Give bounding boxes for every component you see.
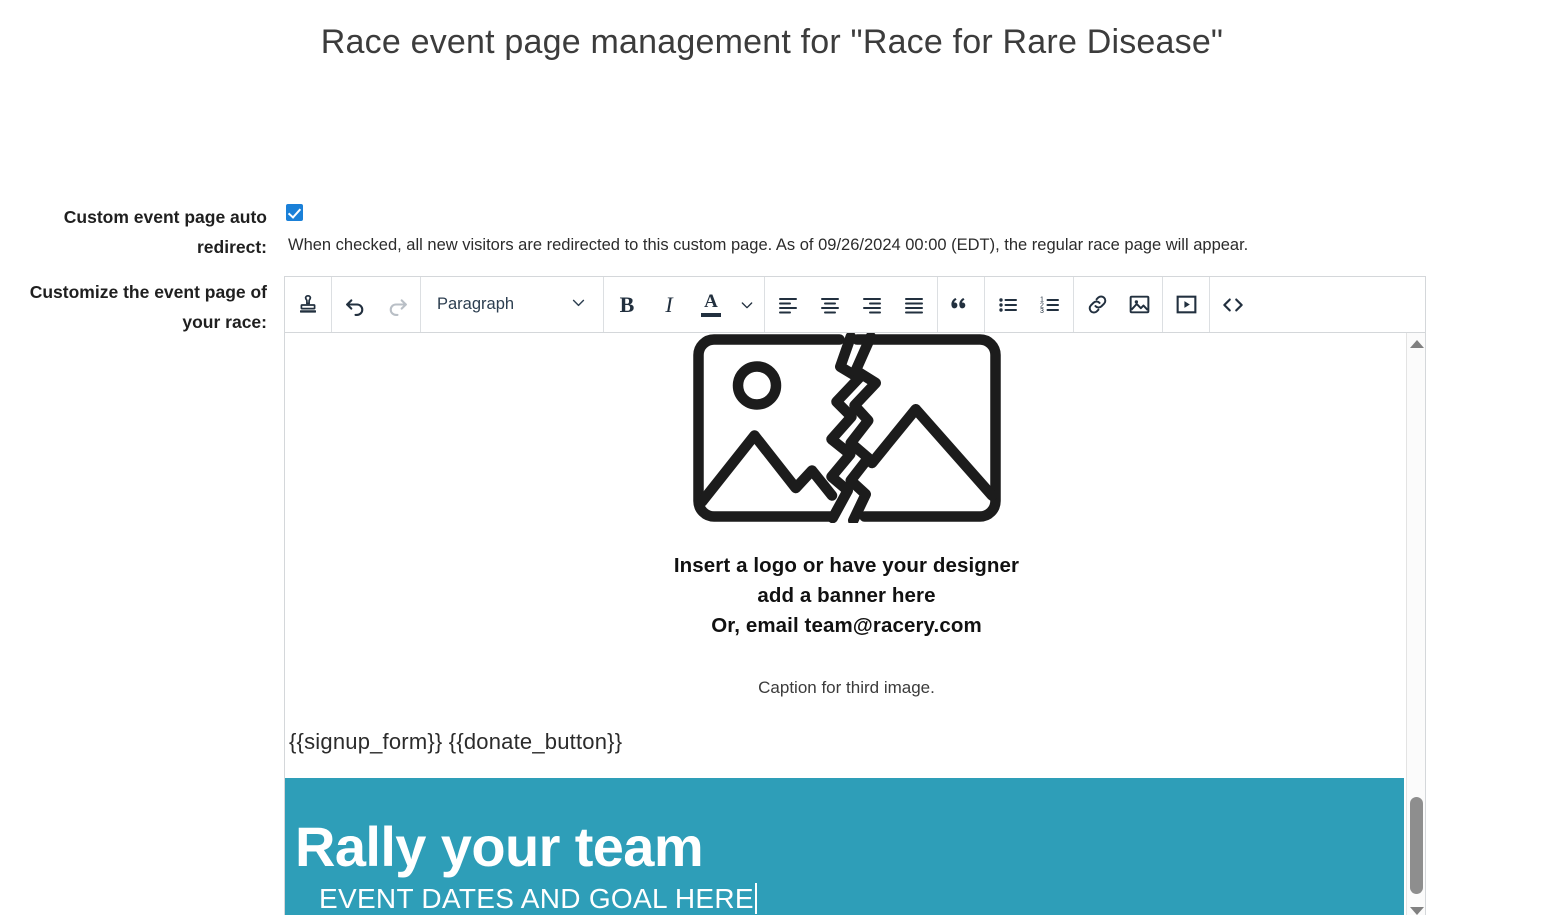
- toolbar-group-code: [1210, 277, 1256, 332]
- broken-image-icon: [692, 333, 1002, 523]
- hero-subtitle[interactable]: EVENT DATES AND GOAL HERE: [295, 880, 757, 915]
- toolbar-group-align: [765, 277, 938, 332]
- italic-button[interactable]: I: [648, 278, 690, 332]
- hero-banner[interactable]: Rally your team EVENT DATES AND GOAL HER…: [285, 778, 1404, 915]
- banner-placeholder-block: Insert a logo or have your designer add …: [285, 333, 1408, 641]
- toolbar-group-lists: 1 2 3: [985, 277, 1074, 332]
- block-format-select[interactable]: Paragraph: [423, 278, 601, 332]
- redirect-help-text: When checked, all new visitors are redir…: [288, 233, 1248, 257]
- hero-title: Rally your team: [295, 814, 1404, 880]
- text-color-swatch: [701, 313, 721, 317]
- stamp-icon[interactable]: [287, 278, 329, 332]
- block-format-value: Paragraph: [437, 295, 514, 314]
- redirect-field-label: Custom event page auto redirect:: [22, 202, 267, 262]
- link-icon[interactable]: [1076, 278, 1118, 332]
- svg-text:3: 3: [1040, 308, 1044, 315]
- placeholder-line-1: Insert a logo or have your designer: [285, 551, 1408, 581]
- text-color-button[interactable]: A: [690, 278, 732, 332]
- text-color-chevron-down-icon[interactable]: [732, 278, 762, 332]
- align-right-icon[interactable]: [851, 278, 893, 332]
- shortcode-paragraph[interactable]: {{signup_form}} {{donate_button}}: [285, 729, 1408, 755]
- toolbar-group-media: [1163, 277, 1210, 332]
- editor-content-area[interactable]: Insert a logo or have your designer add …: [285, 333, 1425, 915]
- page-title: Race event page management for "Race for…: [0, 0, 1544, 66]
- numbered-list-icon[interactable]: 1 2 3: [1029, 278, 1071, 332]
- toolbar-group-inline: B I A: [604, 277, 765, 332]
- video-icon[interactable]: [1165, 278, 1207, 332]
- rich-text-editor: Paragraph B I A: [284, 276, 1426, 915]
- toolbar-group-insert: [1074, 277, 1163, 332]
- text-caret: [755, 883, 757, 914]
- scroll-up-arrow-icon[interactable]: [1407, 334, 1425, 353]
- hero-subtitle-text: EVENT DATES AND GOAL HERE: [319, 883, 754, 914]
- placeholder-line-3: Or, email team@racery.com: [285, 611, 1408, 641]
- text-color-icon: A: [696, 278, 726, 332]
- vertical-scrollbar-thumb[interactable]: [1410, 797, 1423, 894]
- toolbar-group-source: [285, 277, 332, 332]
- text-color-letter: A: [704, 292, 718, 311]
- bold-button[interactable]: B: [606, 278, 648, 332]
- bullet-list-icon[interactable]: [987, 278, 1029, 332]
- image-icon[interactable]: [1118, 278, 1160, 332]
- editor-toolbar: Paragraph B I A: [285, 277, 1425, 333]
- editor-field-label: Customize the event page of your race:: [22, 277, 267, 337]
- scroll-down-arrow-icon[interactable]: [1407, 901, 1425, 915]
- redirect-checkbox[interactable]: [286, 204, 303, 221]
- vertical-scrollbar[interactable]: [1406, 333, 1425, 915]
- code-icon[interactable]: [1212, 278, 1254, 332]
- redo-icon[interactable]: [376, 278, 418, 332]
- align-center-icon[interactable]: [809, 278, 851, 332]
- toolbar-group-blockquote: [938, 277, 985, 332]
- placeholder-line-2: add a banner here: [285, 581, 1408, 611]
- image-caption: Caption for third image.: [285, 678, 1408, 698]
- toolbar-group-history: [332, 277, 421, 332]
- blockquote-icon[interactable]: [940, 278, 982, 332]
- undo-icon[interactable]: [334, 278, 376, 332]
- align-justify-icon[interactable]: [893, 278, 935, 332]
- align-left-icon[interactable]: [767, 278, 809, 332]
- toolbar-group-blockformat: Paragraph: [421, 277, 604, 332]
- chevron-down-icon: [570, 294, 587, 316]
- editor-document[interactable]: Insert a logo or have your designer add …: [285, 333, 1408, 915]
